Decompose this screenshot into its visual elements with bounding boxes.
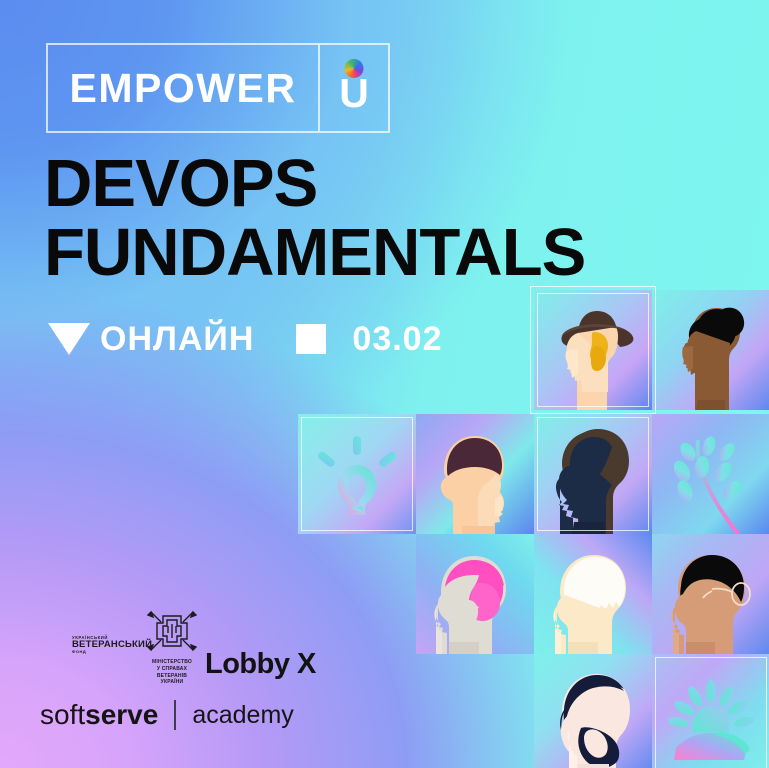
lobby-x-logo: Lobby X — [205, 648, 316, 681]
logo-wordmark-cell: EMPOWER — [48, 45, 320, 131]
ministry-of-veterans-logo: МІНІСТЕРСТВО У СПРАВАХ ВЕТЕРАНІВ УКРАЇНИ — [136, 610, 208, 690]
tile-growth-branch-icon — [652, 414, 769, 534]
title-line-2: FUNDAMENTALS — [44, 221, 585, 285]
event-format: ОНЛАЙН — [100, 322, 254, 356]
ministry-line-1: МІНІСТЕРСТВО — [136, 659, 208, 666]
softserve-serve: serve — [85, 699, 158, 731]
tile-portrait-woman-bun — [652, 290, 769, 410]
tile-portrait-woman-pink-bun — [416, 534, 534, 654]
poster-canvas: EMPOWER U DEVOPS FUNDAMENTALS ОНЛАЙН 03.… — [0, 0, 769, 768]
empower-u-logo: EMPOWER U — [46, 43, 390, 133]
tile-portrait-person-glasses — [652, 534, 769, 654]
trident-cross-emblem-icon — [147, 610, 197, 652]
tile-portrait-woman-hat — [534, 290, 652, 410]
logo-mark: U — [339, 73, 369, 114]
title-line-1: DEVOPS — [44, 152, 585, 216]
tile-portrait-person-afro — [534, 414, 652, 534]
triangle-down-icon — [48, 323, 90, 355]
tile-portrait-man-beard — [534, 654, 652, 768]
logo-wordmark: EMPOWER — [70, 68, 297, 109]
ministry-text-block: МІНІСТЕРСТВО У СПРАВАХ ВЕТЕРАНІВ УКРАЇНИ — [136, 659, 208, 686]
tile-sunrise-plant-icon — [652, 654, 769, 768]
softserve-academy-logo: soft serve academy — [40, 699, 294, 731]
ministry-line-4: УКРАЇНИ — [136, 679, 208, 686]
tile-idea-lightbulb-icon — [298, 414, 416, 534]
softserve-divider — [174, 700, 176, 730]
logo-mark-cell: U — [320, 45, 388, 131]
softserve-academy: academy — [192, 701, 293, 730]
softserve-soft: soft — [40, 699, 85, 731]
tile-portrait-person-white-hair — [534, 534, 652, 654]
illustration-grid — [298, 290, 769, 768]
ministry-line-2: У СПРАВАХ — [136, 666, 208, 673]
page-title: DEVOPS FUNDAMENTALS — [44, 152, 585, 284]
tile-portrait-woman-short-hair — [416, 414, 534, 534]
